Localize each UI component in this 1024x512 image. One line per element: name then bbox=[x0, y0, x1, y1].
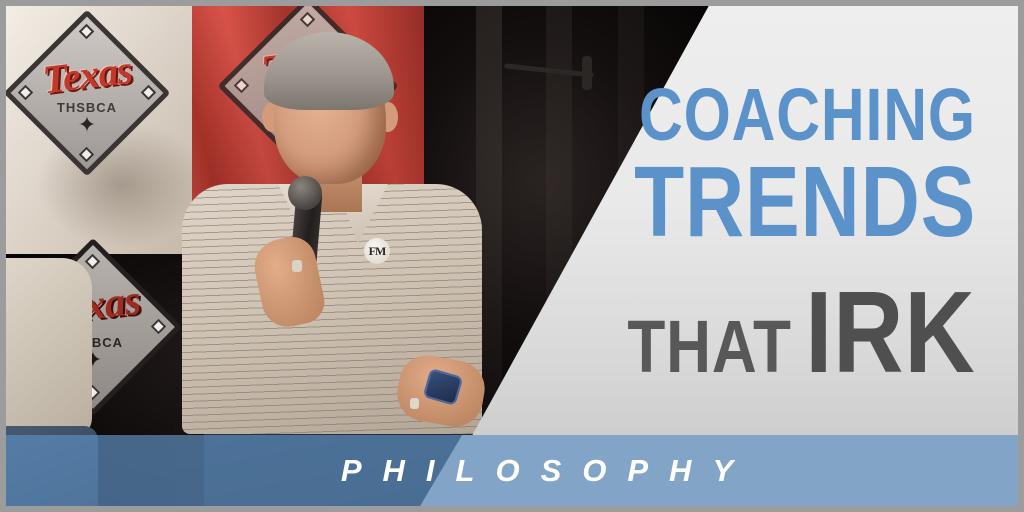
texas-state-glyph-icon: ✦ bbox=[78, 112, 96, 138]
title-word-that: THAT bbox=[628, 310, 792, 384]
category-label: PHILOSOPHY bbox=[0, 435, 1024, 506]
neighbor-left-arm bbox=[6, 258, 92, 438]
shirt-logo-fm: FM bbox=[364, 238, 390, 264]
title-block: COACHING TRENDS THAT IRK bbox=[420, 0, 980, 440]
speaker-ring-right bbox=[410, 398, 419, 409]
title-line-that-irk: THAT IRK bbox=[628, 274, 976, 390]
title-line-trends: TRENDS bbox=[634, 152, 976, 252]
texas-thsbca-logo-icon: Texas THSBCA ✦ bbox=[28, 34, 146, 152]
microphone-head-icon bbox=[288, 176, 322, 210]
speaker-ring-left bbox=[292, 260, 302, 272]
title-word-irk: IRK bbox=[806, 274, 976, 390]
category-bar: PHILOSOPHY bbox=[0, 435, 1024, 506]
thumbnail-canvas: Texas THSBCA ✦ Texas THSBCA Texas THSBCA… bbox=[0, 0, 1024, 512]
title-line-coaching: COACHING bbox=[639, 78, 976, 152]
